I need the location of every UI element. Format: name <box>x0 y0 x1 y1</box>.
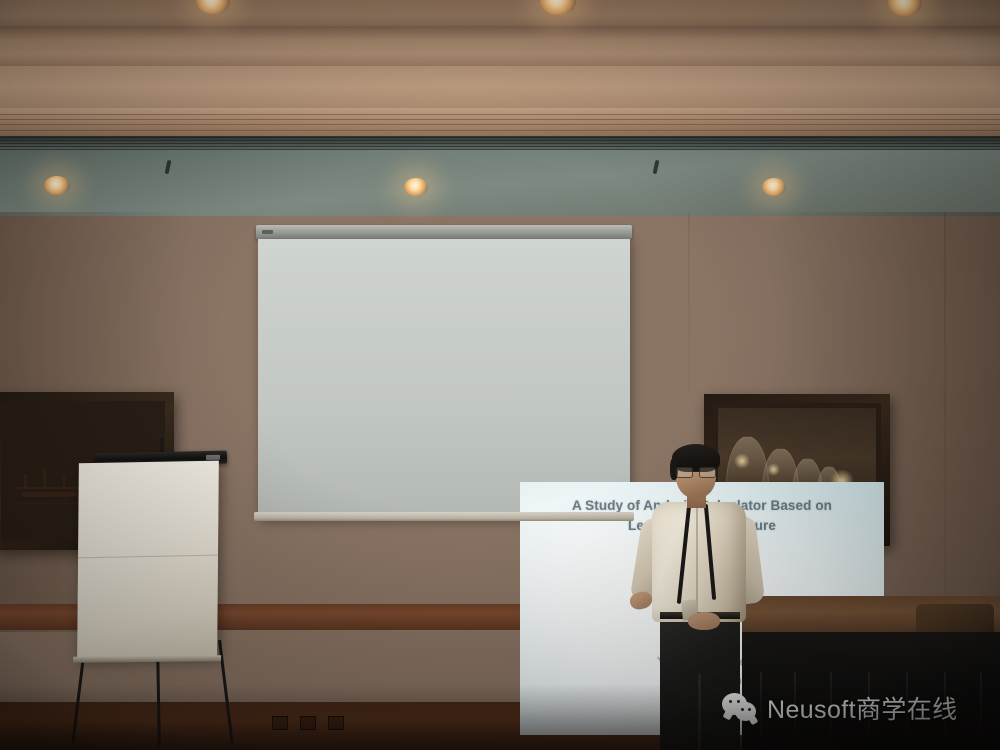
ceiling-cove-band <box>0 26 1000 66</box>
ceiling-panel-grooves <box>0 136 1000 152</box>
crown-molding-grooves <box>0 112 1000 136</box>
glasses-icon <box>676 467 716 476</box>
presenter-right-hand <box>688 612 720 630</box>
projection-screen: A Study of Android Calculator Based on L… <box>258 239 630 519</box>
paper-crease <box>78 554 218 558</box>
conference-presentation-photo: A Study of Android Calculator Based on L… <box>0 0 1000 750</box>
blank-flipchart-paper <box>77 461 219 659</box>
projection-screen-bottom-bar <box>254 512 634 521</box>
projection-screen-housing <box>256 225 632 239</box>
ceiling-upper-plane <box>0 0 1000 26</box>
wall-seam <box>688 212 690 392</box>
ceiling-light <box>762 178 786 196</box>
ceiling-light <box>44 176 70 195</box>
bottom-shadow <box>0 684 1000 750</box>
ceiling-light <box>404 178 428 196</box>
flipchart-brand-mark <box>206 455 220 460</box>
wall-seam <box>944 212 946 632</box>
screen-pull-knob <box>262 230 273 234</box>
ceiling-soffit <box>0 66 1000 112</box>
